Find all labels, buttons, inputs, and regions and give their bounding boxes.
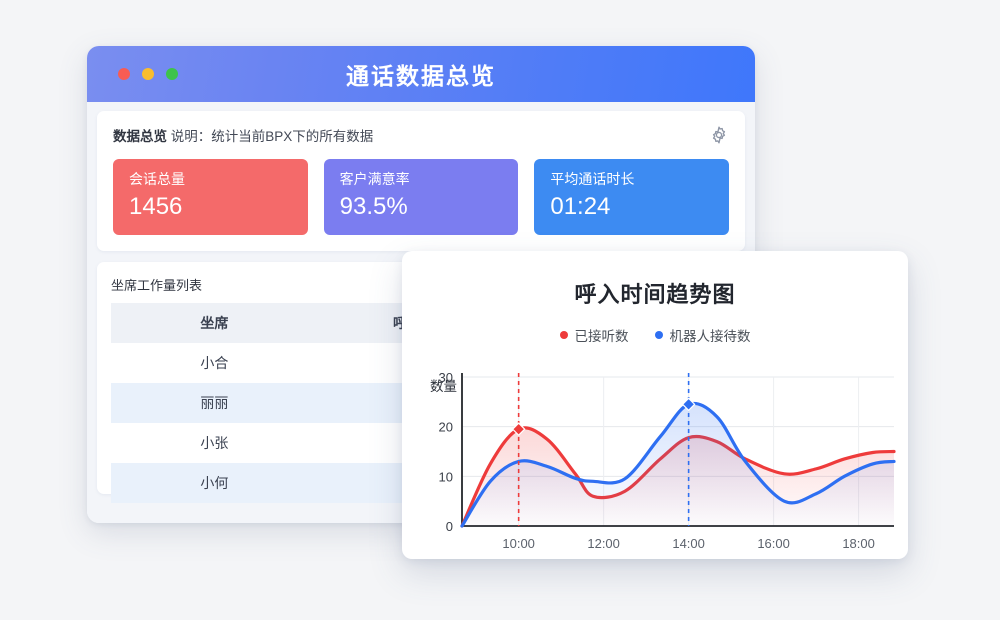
svg-text:14:00: 14:00 (672, 536, 705, 551)
data-overview-header: 数据总览 说明：统计当前BPX下的所有数据 (113, 125, 729, 145)
svg-text:12:00: 12:00 (587, 536, 620, 551)
chart-legend: 已接听数 机器人接待数 (402, 325, 908, 345)
kpi-card-satisfaction-rate[interactable]: 客户满意率 93.5% (324, 159, 519, 235)
svg-text:30: 30 (439, 370, 453, 385)
svg-text:16:00: 16:00 (757, 536, 790, 551)
overview-description: 说明：统计当前BPX下的所有数据 (171, 129, 374, 144)
minimize-window-button[interactable] (142, 68, 154, 80)
cell-agent: 小何 (111, 463, 318, 503)
kpi-card-row: 会话总量 1456 客户满意率 93.5% 平均通话时长 01:24 (113, 159, 729, 235)
svg-text:10: 10 (439, 469, 453, 484)
trend-line-chart: 010203010:0012:0014:0016:0018:00 (402, 369, 908, 559)
window-titlebar: 通话数据总览 (87, 46, 755, 102)
svg-text:10:00: 10:00 (502, 536, 535, 551)
kpi-card-total-sessions[interactable]: 会话总量 1456 (113, 159, 308, 235)
maximize-window-button[interactable] (166, 68, 178, 80)
kpi-label: 客户满意率 (340, 172, 503, 187)
data-overview-heading: 数据总览 说明：统计当前BPX下的所有数据 (113, 125, 373, 145)
cell-agent: 丽丽 (111, 383, 318, 423)
gear-icon[interactable] (709, 125, 729, 145)
svg-text:0: 0 (446, 519, 453, 534)
kpi-label: 会话总量 (129, 172, 292, 187)
svg-text:18:00: 18:00 (842, 536, 875, 551)
chart-title: 呼入时间趋势图 (402, 277, 908, 309)
window-traffic-lights (118, 68, 178, 80)
overview-heading-label: 数据总览 (113, 129, 167, 144)
kpi-card-avg-call-duration[interactable]: 平均通话时长 01:24 (534, 159, 729, 235)
svg-text:20: 20 (439, 420, 453, 435)
app-screenshot: 通话数据总览 数据总览 说明：统计当前BPX下的所有数据 (0, 0, 1000, 620)
legend-color-dot-blue (655, 331, 663, 339)
legend-label: 机器人接待数 (670, 325, 751, 345)
legend-label: 已接听数 (575, 325, 629, 345)
window-title: 通话数据总览 (87, 57, 755, 91)
kpi-value: 93.5% (340, 194, 503, 219)
data-overview-panel: 数据总览 说明：统计当前BPX下的所有数据 会话总量 1456 (97, 111, 745, 251)
legend-item-answered[interactable]: 已接听数 (560, 325, 629, 345)
legend-item-robot[interactable]: 机器人接待数 (655, 325, 751, 345)
column-header-agent[interactable]: 坐席 (111, 303, 318, 343)
legend-color-dot-red (560, 331, 568, 339)
trend-chart-card: 呼入时间趋势图 已接听数 机器人接待数 数量 010203010:0012:00… (402, 251, 908, 559)
kpi-value: 1456 (129, 194, 292, 219)
kpi-value: 01:24 (550, 194, 713, 219)
cell-agent: 小张 (111, 423, 318, 463)
kpi-label: 平均通话时长 (550, 172, 713, 187)
close-window-button[interactable] (118, 68, 130, 80)
cell-agent: 小合 (111, 343, 318, 383)
